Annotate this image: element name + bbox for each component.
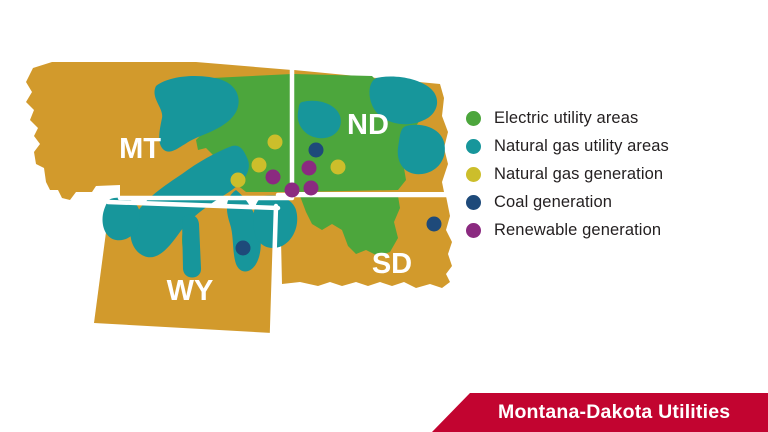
map-legend: Electric utility areas Natural gas utili… [466, 104, 766, 244]
generation-dot-ren-3[interactable] [304, 181, 319, 196]
screenshot-root: MT ND SD WY El [0, 0, 768, 432]
legend-label-renewable: Renewable generation [494, 222, 661, 239]
generation-dot-gas-3[interactable] [231, 173, 246, 188]
legend-item-natural-gas-utility-areas[interactable]: Natural gas utility areas [466, 132, 766, 160]
generation-dot-ren-1[interactable] [266, 170, 281, 185]
state-label-nd: ND [347, 109, 389, 141]
state-label-mt: MT [119, 133, 161, 165]
legend-label-electric: Electric utility areas [494, 110, 638, 127]
legend-dot-icon-renewable [466, 223, 481, 238]
legend-label-gas-generation: Natural gas generation [494, 166, 663, 183]
legend-item-electric-utility-areas[interactable]: Electric utility areas [466, 104, 766, 132]
legend-dot-icon-gas-generation [466, 167, 481, 182]
generation-dot-gas-1[interactable] [268, 135, 283, 150]
gas-area-wyoming-capsule [182, 215, 201, 278]
generation-dot-ren-4[interactable] [285, 183, 300, 198]
state-label-wy: WY [167, 275, 214, 307]
legend-label-natural-gas: Natural gas utility areas [494, 138, 669, 155]
legend-item-coal-generation[interactable]: Coal generation [466, 188, 766, 216]
service-territory-map: MT ND SD WY [0, 40, 470, 370]
legend-dot-icon-electric [466, 111, 481, 126]
generation-dot-coal-2[interactable] [236, 241, 251, 256]
legend-dot-icon-coal [466, 195, 481, 210]
generation-dot-coal-3[interactable] [427, 217, 442, 232]
generation-dot-gas-2[interactable] [252, 158, 267, 173]
legend-dot-icon-natural-gas [466, 139, 481, 154]
generation-dot-gas-4[interactable] [331, 160, 346, 175]
state-label-sd: SD [372, 248, 412, 280]
brand-footer-banner: Montana-Dakota Utilities [432, 393, 768, 432]
brand-name: Montana-Dakota Utilities [498, 393, 730, 432]
legend-item-natural-gas-generation[interactable]: Natural gas generation [466, 160, 766, 188]
generation-dot-coal-1[interactable] [309, 143, 324, 158]
map-svg: MT ND SD WY [0, 40, 470, 370]
legend-item-renewable-generation[interactable]: Renewable generation [466, 216, 766, 244]
legend-label-coal: Coal generation [494, 194, 612, 211]
generation-dot-ren-2[interactable] [302, 161, 317, 176]
